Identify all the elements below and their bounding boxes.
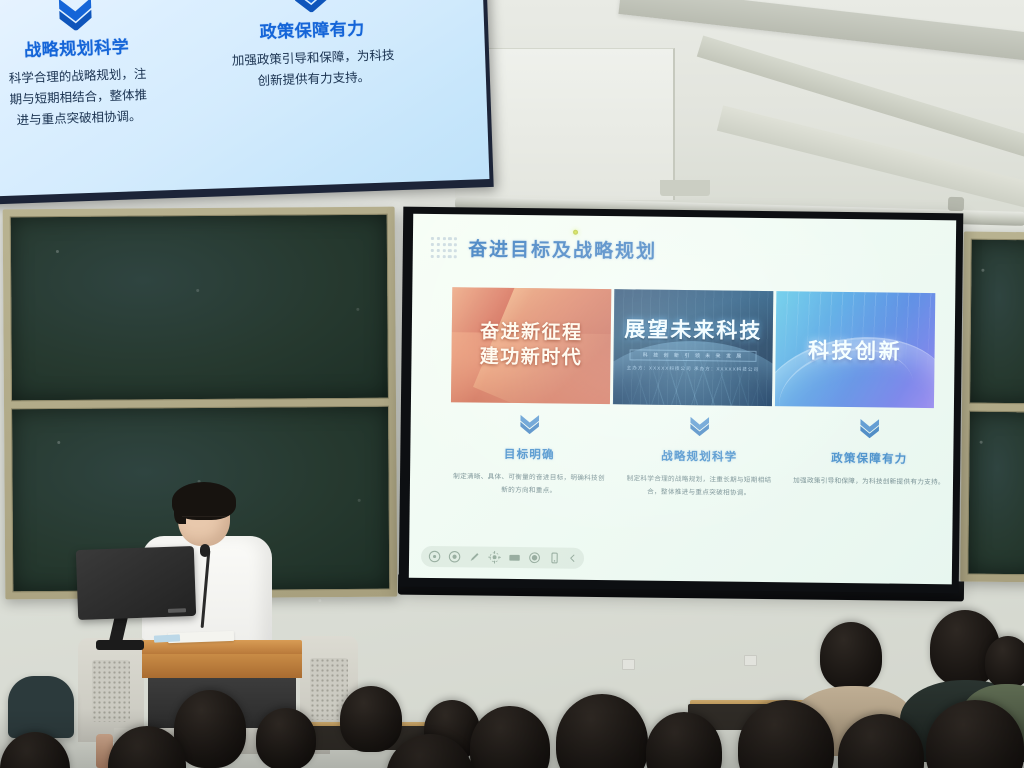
card-innovation-title: 科技创新	[808, 334, 902, 365]
chair	[8, 676, 74, 738]
blackboard-panel	[967, 410, 1024, 575]
audience-head	[340, 686, 402, 752]
card-innovation: 科技创新	[775, 291, 935, 408]
podium-desktop	[142, 640, 302, 654]
double-chevron-down-icon	[519, 413, 541, 434]
overhead-led-display: 战略规划科学 科学合理的战略规划，注期与短期相结合，整体推进与重点突破相协调。 …	[0, 0, 494, 205]
slide-column-heading: 战略规划科学	[622, 447, 776, 465]
podium-side-left	[78, 638, 144, 742]
phone-remote-icon[interactable]	[548, 551, 561, 564]
slide-header: 奋进目标及战略规划	[431, 234, 658, 264]
slide-column-body: 制定清晰、具体、可衡量的奋进目标，明确科技创新的方向和重点。	[452, 470, 606, 498]
slide-columns: 目标明确 制定清晰、具体、可衡量的奋进目标，明确科技创新的方向和重点。 战略规划…	[444, 412, 955, 503]
blackboard-panel	[969, 239, 1024, 404]
card-red-line-2: 建功新时代	[480, 345, 583, 371]
slide-column-body: 制定科学合理的战略规划，注重长期与短期相结合，整体推进与重点突破相协调。	[622, 472, 776, 500]
next-slide-icon[interactable]	[448, 550, 461, 563]
soffit-lip	[660, 180, 710, 196]
wall-socket	[744, 655, 757, 666]
card-tech-blue-subtitle: 科 技 创 新 引 领 未 来 发 展	[630, 349, 757, 362]
podium-front-panel	[142, 654, 302, 678]
led-screen-surface: 战略规划科学 科学合理的战略规划，注期与短期相结合，整体推进与重点突破相协调。 …	[0, 0, 489, 197]
audience-head	[256, 708, 316, 768]
blackboard-panel	[10, 214, 389, 401]
monitor-base	[96, 640, 144, 650]
audience-head	[820, 622, 882, 690]
led-column-heading: 政策保障有力	[167, 11, 458, 46]
slide-column-body: 加强政策引导和保障，为科技创新提供有力支持。	[792, 474, 946, 489]
projection-screen: 奋进目标及战略规划 奋进新征程 建功新时代 展望未来科技 科 技 创 新 引 领…	[399, 207, 964, 594]
card-tech-blue-title: 展望未来科技	[624, 313, 762, 345]
card-tech-blue: 展望未来科技 科 技 创 新 引 领 未 来 发 展 主办方：XXXXX科技公司…	[613, 289, 773, 406]
slide-column-heading: 目标明确	[452, 445, 606, 463]
slide-image-cards: 奋进新征程 建功新时代 展望未来科技 科 技 创 新 引 领 未 来 发 展 主…	[451, 287, 935, 408]
laser-pointer-dot	[573, 230, 578, 235]
slide-column-heading: 政策保障有力	[792, 449, 946, 467]
card-red-line-1: 奋进新征程	[480, 320, 583, 346]
blackboard-right	[960, 232, 1024, 583]
collapse-chevron-icon[interactable]	[568, 554, 577, 563]
dot-grid-decoration	[431, 237, 458, 258]
speaker-grille-left	[92, 660, 130, 722]
led-column-body: 加强政策引导和保障，为科技创新提供有力支持。	[168, 43, 459, 95]
podium-monitor	[76, 546, 196, 620]
presenter-hair	[172, 482, 236, 520]
card-red: 奋进新征程 建功新时代	[451, 287, 611, 404]
monitor-brand-logo	[168, 608, 186, 613]
wall-socket	[622, 659, 635, 670]
card-red-text: 奋进新征程 建功新时代	[480, 320, 583, 371]
double-chevron-down-icon	[859, 417, 881, 438]
double-chevron-down-icon	[56, 0, 95, 31]
powerpoint-slide: 奋进目标及战略规划 奋进新征程 建功新时代 展望未来科技 科 技 创 新 引 领…	[409, 214, 956, 585]
audience-head	[985, 636, 1024, 688]
card-innovation-text: 科技创新	[808, 334, 902, 365]
presenter-mode-toolbar[interactable]	[421, 546, 584, 569]
double-chevron-down-icon	[291, 0, 330, 13]
slide-column-3: 政策保障有力 加强政策引导和保障，为科技创新提供有力支持。	[784, 416, 955, 502]
microphone-icon	[200, 544, 210, 557]
lecture-hall-scene: 战略规划科学 科学合理的战略规划，注期与短期相结合，整体推进与重点突破相协调。 …	[0, 0, 1024, 768]
led-column-2: 政策保障有力 加强政策引导和保障，为科技创新提供有力支持。	[165, 0, 459, 95]
slide-column-2: 战略规划科学 制定科学合理的战略规划，注重长期与短期相结合，整体推进与重点突破相…	[614, 414, 785, 500]
slide-title: 奋进目标及战略规划	[468, 234, 657, 263]
projection-screen-roller-end	[948, 197, 964, 211]
laser-pointer-icon[interactable]	[488, 551, 501, 564]
whiteboard-icon[interactable]	[508, 551, 521, 564]
spotlight-icon[interactable]	[528, 551, 541, 564]
glasses-icon	[182, 516, 226, 525]
card-tech-blue-text: 展望未来科技 科 技 创 新 引 领 未 来 发 展 主办方：XXXXX科技公司…	[624, 313, 763, 373]
previous-slide-icon[interactable]	[428, 550, 441, 563]
double-chevron-down-icon	[689, 415, 711, 436]
papers-on-podium	[154, 634, 180, 642]
slide-column-1: 目标明确 制定清晰、具体、可衡量的奋进目标，明确科技创新的方向和重点。	[444, 412, 615, 498]
pen-icon[interactable]	[468, 550, 481, 563]
